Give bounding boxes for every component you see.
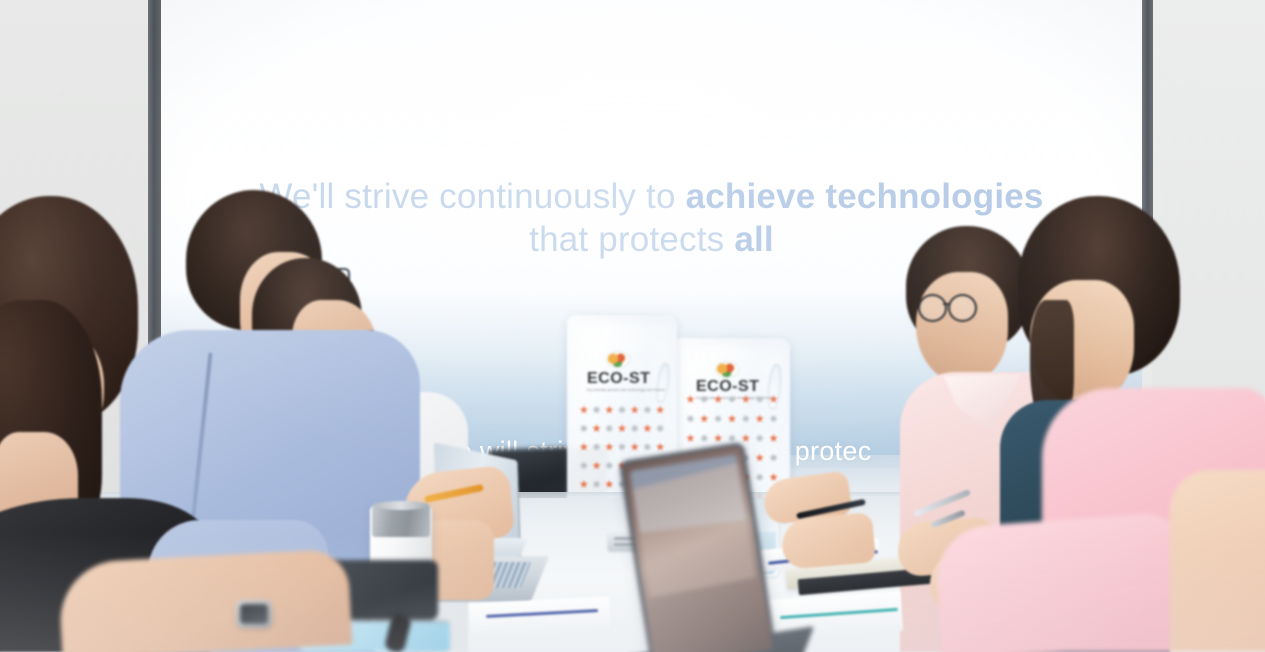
depth-of-field-overlay <box>0 532 1265 652</box>
meeting-room-photo: We'll strive continuously to achieve tec… <box>0 0 1265 652</box>
